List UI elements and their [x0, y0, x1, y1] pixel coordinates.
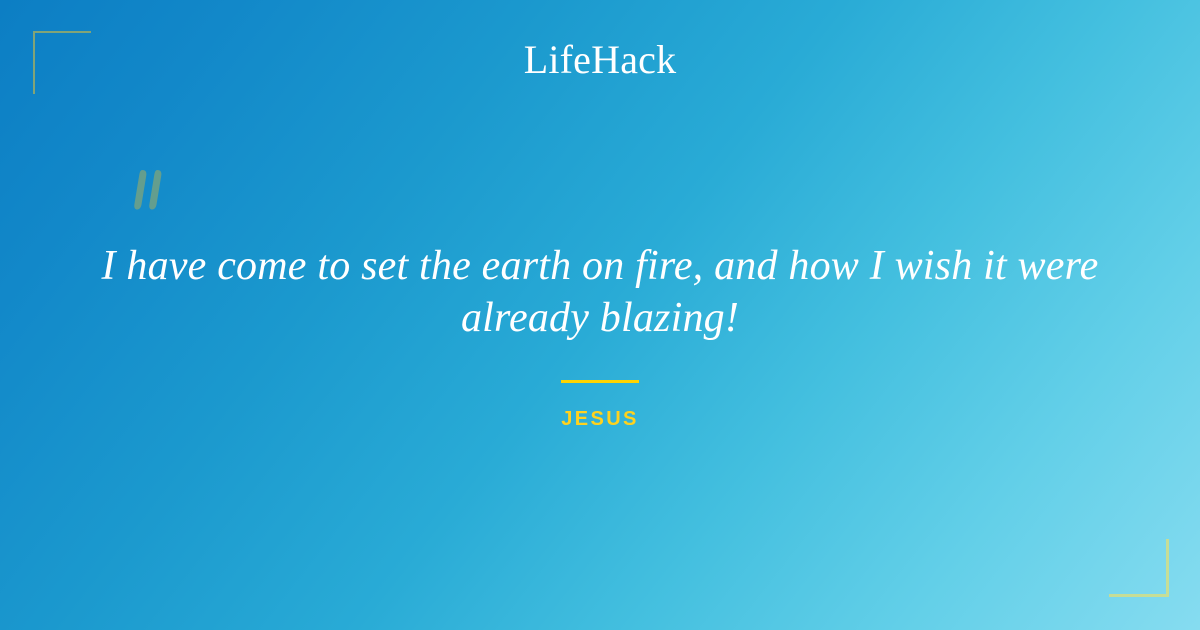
attribution-divider	[561, 380, 639, 383]
brand-logo-text: LifeHack	[524, 38, 677, 82]
attribution-author: JESUS	[561, 407, 639, 431]
quotation-mark-icon	[130, 168, 174, 214]
attribution-block: JESUS	[0, 380, 1200, 431]
quote-text: I have come to set the earth on fire, an…	[100, 240, 1100, 344]
corner-bracket-bottom-right	[1109, 539, 1169, 597]
brand-header: LifeHack	[0, 38, 1200, 82]
quote-card: LifeHack I have come to set the earth on…	[0, 0, 1200, 630]
